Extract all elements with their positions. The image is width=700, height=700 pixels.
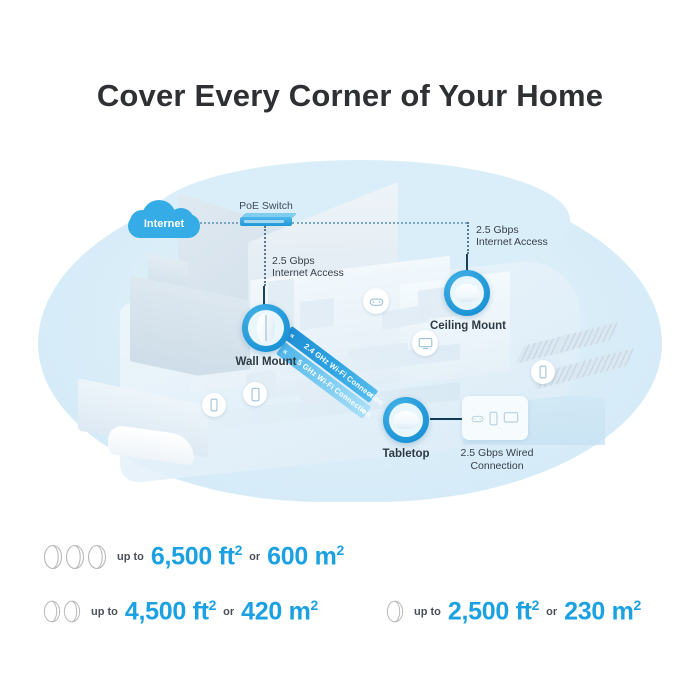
page-root: Cover Every Corner of Your Home xyxy=(0,0,700,700)
coverage-icons-1 xyxy=(385,598,405,625)
callout-ceiling-uplink-line2: Internet Access xyxy=(476,236,548,248)
node-tabletop[interactable] xyxy=(383,397,429,443)
ap-unit-icon xyxy=(62,598,82,625)
node-wall-mount-inner xyxy=(248,310,284,346)
ceiling-mount-device-icon xyxy=(454,284,480,302)
node-tabletop-label: Tabletop xyxy=(358,448,454,460)
smartphone-small-icon xyxy=(488,411,499,426)
page-title: Cover Every Corner of Your Home xyxy=(0,78,700,114)
callout-wired-line1: 2.5 Gbps Wired xyxy=(449,447,545,460)
gamepad-icon xyxy=(369,294,384,309)
link-internet-to-switch xyxy=(200,222,242,224)
poe-switch-label: PoE Switch xyxy=(206,200,326,212)
poe-switch-icon xyxy=(240,217,292,226)
smartphone-icon xyxy=(209,398,219,412)
coverage-area-ft-3: 6,500 ft2 xyxy=(151,542,242,571)
bubble-tablet[interactable] xyxy=(243,382,267,406)
bubble-gamepad[interactable] xyxy=(363,288,389,314)
callout-wired-connection: 2.5 Gbps Wired Connection xyxy=(449,447,545,473)
bubble-tv[interactable] xyxy=(412,330,438,356)
coverage-or-1: or xyxy=(546,606,557,618)
tabletop-device-icon xyxy=(393,411,419,429)
node-wall-mount[interactable] xyxy=(242,304,290,352)
home-coverage-diagram: Internet PoE Switch 2.5 Gbps Internet Ac… xyxy=(0,160,700,510)
coverage-icons-2 xyxy=(42,598,82,625)
link-switch-to-ceiling-h xyxy=(292,222,467,224)
wall-mount-device-icon xyxy=(257,313,275,343)
coverage-or-3: or xyxy=(249,551,260,563)
coverage-or-2: or xyxy=(223,606,234,618)
wired-devices-card xyxy=(462,396,528,440)
ap-unit-icon xyxy=(64,542,86,572)
ap-unit-icon xyxy=(42,542,64,572)
ap-unit-icon xyxy=(385,598,405,625)
coverage-area-ft-1: 2,500 ft2 xyxy=(448,597,539,626)
smartphone-poolside-icon xyxy=(538,365,548,379)
node-ceiling-mount-inner xyxy=(450,276,484,310)
coverage-row-2-pack: up to 4,500 ft2 or 420 m2 xyxy=(42,597,318,626)
coverage-upto-2: up to xyxy=(91,606,118,618)
gamepad-small-icon xyxy=(471,412,484,425)
coverage-area-ft-2: 4,500 ft2 xyxy=(125,597,216,626)
link-switch-to-ceiling-v xyxy=(467,222,469,254)
coverage-area-m-2: 420 m2 xyxy=(241,597,318,626)
node-tabletop-inner xyxy=(389,403,423,437)
ap-unit-icon xyxy=(42,598,62,625)
callout-wall-uplink: 2.5 Gbps Internet Access xyxy=(272,255,344,279)
callout-wall-uplink-line1: 2.5 Gbps xyxy=(272,255,344,267)
coverage-upto-1: up to xyxy=(414,606,441,618)
tv-small-icon xyxy=(503,411,519,425)
node-wall-mount-label: Wall Mount xyxy=(208,356,324,368)
callout-ceiling-uplink-line1: 2.5 Gbps xyxy=(476,224,548,236)
coverage-area-m-1: 230 m2 xyxy=(564,597,641,626)
bubble-smartphone[interactable] xyxy=(202,393,226,417)
link-switch-to-wall-v xyxy=(264,226,266,286)
coverage-upto-3: up to xyxy=(117,551,144,563)
coverage-row-1-pack: up to 2,500 ft2 or 230 m2 xyxy=(385,597,641,626)
tv-icon xyxy=(418,337,433,350)
node-ceiling-mount[interactable] xyxy=(444,270,490,316)
link-wall-drop xyxy=(263,286,265,306)
callout-ceiling-uplink: 2.5 Gbps Internet Access xyxy=(476,224,548,248)
ap-unit-icon xyxy=(86,542,108,572)
internet-cloud: Internet xyxy=(128,200,200,238)
coverage-icons-3 xyxy=(42,542,108,572)
coverage-area-m-3: 600 m2 xyxy=(267,542,344,571)
coverage-row-3-pack: up to 6,500 ft2 or 600 m2 xyxy=(42,542,344,572)
bubble-smartphone-poolside[interactable] xyxy=(531,360,555,384)
furniture-cabinet xyxy=(300,298,334,330)
internet-label: Internet xyxy=(128,218,200,230)
callout-wired-line2: Connection xyxy=(449,460,545,473)
callout-wall-uplink-line2: Internet Access xyxy=(272,267,344,279)
tablet-icon xyxy=(250,387,261,402)
